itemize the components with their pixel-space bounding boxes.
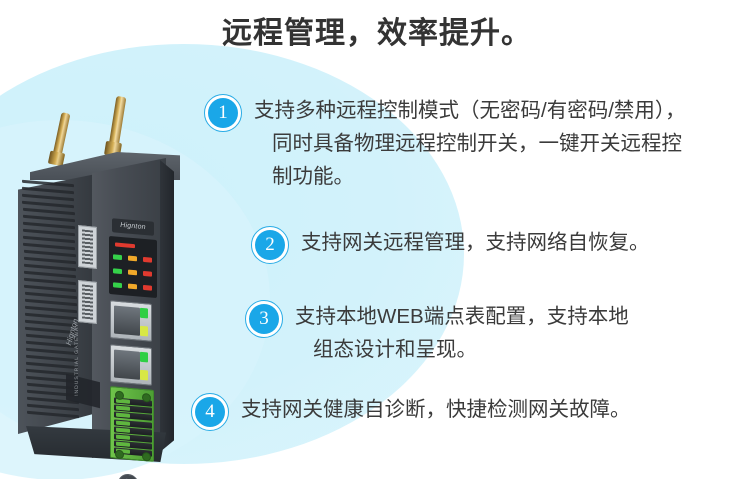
ethernet-port-2 [110, 344, 152, 386]
feature-item-1: 1 支持多种远程控制模式（无密码/有密码/禁用）， 同时具备物理远程控制开关，一… [204, 94, 686, 193]
promo-banner: Hignton INDUSTRIAL GATEWAY Hignton [0, 0, 754, 479]
heatsink-fin [23, 243, 75, 251]
feature-line: 支持网关健康自诊断，快捷检测网关故障。 [241, 393, 631, 426]
led-green-icon [113, 282, 122, 288]
led-row [113, 268, 155, 277]
link-led-green-icon [140, 352, 148, 363]
feature-line: 组态设计和呈现。 [295, 333, 629, 366]
heatsink-fin [23, 208, 75, 216]
feature-text-2: 支持网关远程管理，支持网络自恢复。 [301, 226, 650, 259]
heatsink-fin [23, 236, 75, 244]
heatsink-fin [24, 264, 76, 272]
feature-item-3: 3 支持本地WEB端点表配置，支持本地 组态设计和呈现。 [245, 300, 629, 366]
qr-code-icon [82, 284, 93, 319]
terminal-screw [142, 393, 151, 403]
feature-line: 支持本地WEB端点表配置，支持本地 [295, 300, 629, 333]
led-row [113, 282, 155, 291]
led-orange-icon [128, 284, 137, 290]
led-red-icon [143, 271, 152, 277]
led-red-icon [143, 285, 152, 291]
heatsink-fin [25, 313, 77, 321]
device-right-edge [160, 160, 174, 452]
feature-line: 制功能。 [254, 160, 686, 193]
led-red-icon [143, 257, 152, 263]
led-green-icon [113, 268, 122, 274]
rj45-jack-icon [114, 350, 140, 380]
link-led-yellow-icon [140, 370, 148, 381]
heatsink-fin [24, 257, 76, 265]
heatsink-fin [23, 229, 75, 237]
green-terminal-block [110, 386, 154, 462]
feature-text-3: 支持本地WEB端点表配置，支持本地 组态设计和呈现。 [295, 300, 629, 366]
qr-code-icon [82, 229, 93, 264]
led-green-icon [113, 254, 122, 260]
heatsink-fin [24, 250, 76, 258]
heatsink-fin [23, 215, 75, 223]
led-row [113, 254, 155, 263]
terminal-screw [115, 391, 124, 401]
feature-line: 支持多种远程控制模式（无密码/有密码/禁用）， [254, 94, 686, 127]
terminal-screw [142, 452, 151, 462]
heatsink-fin [24, 271, 76, 279]
heatsink-fin [24, 285, 76, 293]
led-orange-icon [128, 256, 137, 262]
heatsink-fin [27, 411, 79, 419]
feature-line: 同时具备物理远程控制开关，一键开关远程控 [254, 127, 686, 160]
heatsink-fin [23, 222, 75, 230]
feature-badge-3: 3 [245, 300, 283, 338]
feature-number-4: 4 [195, 397, 225, 427]
feature-number-1: 1 [208, 98, 238, 128]
heatsink-fin [22, 201, 74, 209]
feature-badge-2: 2 [251, 226, 289, 264]
ethernet-port-1 [110, 300, 152, 342]
feature-badge-1: 1 [204, 94, 242, 132]
feature-badge-4: 4 [191, 393, 229, 431]
antenna-left-base [48, 151, 65, 167]
power-button-icon [118, 473, 139, 479]
heatsink-fin [26, 348, 78, 356]
feature-number-3: 3 [249, 304, 279, 334]
heatsink-fin [25, 306, 77, 314]
heatsink-fin [26, 355, 78, 363]
rj45-jack-icon [114, 306, 140, 336]
link-led-green-icon [140, 308, 148, 319]
heatsink-fin [25, 292, 77, 300]
heatsink-fin [25, 299, 77, 307]
feature-line: 支持网关远程管理，支持网络自恢复。 [301, 226, 650, 259]
feature-item-2: 2 支持网关远程管理，支持网络自恢复。 [251, 226, 650, 264]
heatsink-fin [22, 194, 74, 202]
page-title: 远程管理，效率提升。 [0, 8, 754, 52]
device-side-text: INDUSTRIAL GATEWAY [74, 323, 80, 396]
heatsink-fin [26, 362, 78, 370]
qr-sticker-lower [78, 280, 97, 324]
heatsink-fin [27, 404, 79, 412]
qr-sticker-upper [78, 225, 97, 269]
feature-item-4: 4 支持网关健康自诊断，快捷检测网关故障。 [191, 393, 631, 431]
heatsink-fin [22, 187, 74, 195]
feature-text-4: 支持网关健康自诊断，快捷检测网关故障。 [241, 393, 631, 426]
feature-number-2: 2 [255, 230, 285, 260]
terminal-screw [115, 450, 124, 460]
heatsink-fin [24, 278, 76, 286]
feature-text-1: 支持多种远程控制模式（无密码/有密码/禁用）， 同时具备物理远程控制开关，一键开… [254, 94, 686, 193]
link-led-yellow-icon [140, 326, 148, 337]
power-led-icon [115, 242, 135, 248]
led-orange-icon [128, 270, 137, 276]
led-indicator-panel [109, 236, 157, 298]
